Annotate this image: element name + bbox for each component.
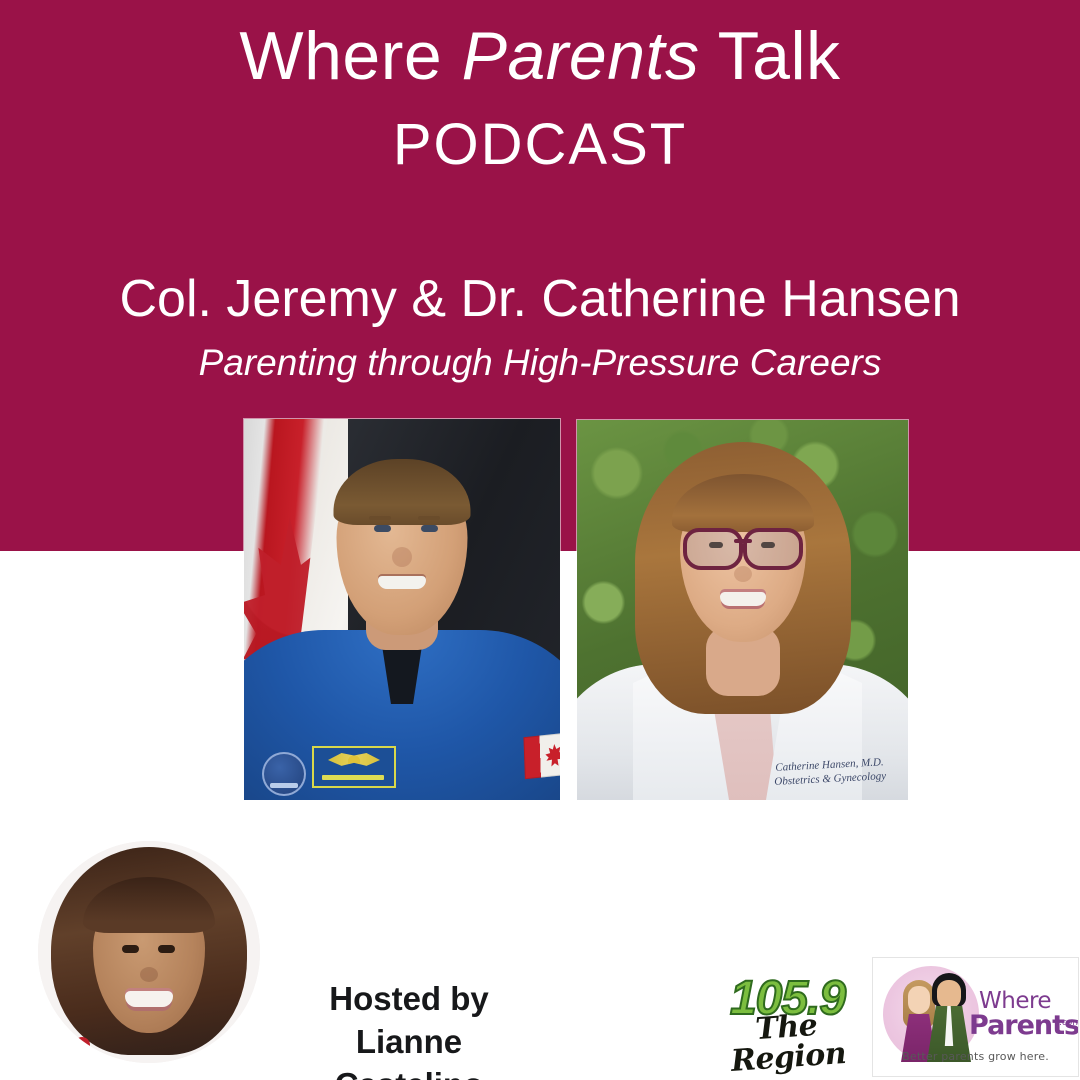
show-title-part1: Where bbox=[239, 18, 461, 94]
hosted-by-label: Hosted by bbox=[283, 978, 535, 1021]
smile bbox=[125, 991, 173, 1007]
guest-photo-catherine-hansen: Catherine Hansen, M.D. Obstetrics & Gyne… bbox=[577, 420, 908, 800]
eyeglass-lens-left bbox=[683, 528, 743, 570]
logo-tagline: Better parents grow here. bbox=[873, 1050, 1078, 1063]
eye-left bbox=[374, 525, 391, 532]
flight-suit-nametag bbox=[312, 746, 396, 788]
lab-coat-embroidery: Catherine Hansen, M.D. Obstetrics & Gyne… bbox=[774, 756, 887, 789]
where-parents-talk-logo: Where ParentsTalk .com Better parents gr… bbox=[872, 957, 1079, 1077]
eye-left bbox=[122, 945, 139, 953]
eye-right bbox=[421, 525, 438, 532]
radio-station-name: The Region bbox=[698, 1007, 877, 1079]
show-title-italic-word: Parents bbox=[462, 18, 700, 94]
host-name: Lianne Castelino bbox=[283, 1021, 535, 1080]
smile bbox=[720, 592, 766, 606]
show-title: Where Parents Talk bbox=[0, 22, 1080, 90]
nose bbox=[392, 547, 412, 567]
format-label: PODCAST bbox=[0, 116, 1080, 174]
host-avatar bbox=[38, 841, 260, 1063]
canadian-flag-patch-icon bbox=[523, 731, 560, 780]
clothing-accent bbox=[74, 1037, 90, 1053]
nose bbox=[734, 566, 752, 582]
radio-station-logo: 105.9 The Region bbox=[700, 975, 875, 1050]
eye-right bbox=[158, 945, 175, 953]
episode-guest-names: Col. Jeremy & Dr. Catherine Hansen bbox=[0, 272, 1080, 327]
logo-man-illustration bbox=[927, 973, 971, 1062]
smile bbox=[378, 576, 426, 589]
eyebrow-left bbox=[369, 516, 391, 520]
eyeglass-bridge bbox=[734, 539, 752, 543]
eyeglass-lens-right bbox=[743, 528, 803, 570]
eyebrow-right bbox=[418, 516, 440, 520]
podcast-episode-poster: Where Parents Talk PODCAST Col. Jeremy &… bbox=[0, 0, 1080, 1080]
csa-agency-patch-icon bbox=[262, 752, 306, 796]
eyeglasses-icon bbox=[683, 528, 803, 562]
show-title-part2: Talk bbox=[699, 18, 840, 94]
face bbox=[937, 980, 961, 1009]
guest-photo-jeremy-hansen bbox=[244, 419, 560, 800]
episode-topic: Parenting through High-Pressure Careers bbox=[0, 344, 1080, 383]
host-credit: Hosted by Lianne Castelino bbox=[283, 978, 535, 1080]
logo-tld: .com bbox=[1059, 1018, 1079, 1028]
nose bbox=[140, 967, 158, 982]
